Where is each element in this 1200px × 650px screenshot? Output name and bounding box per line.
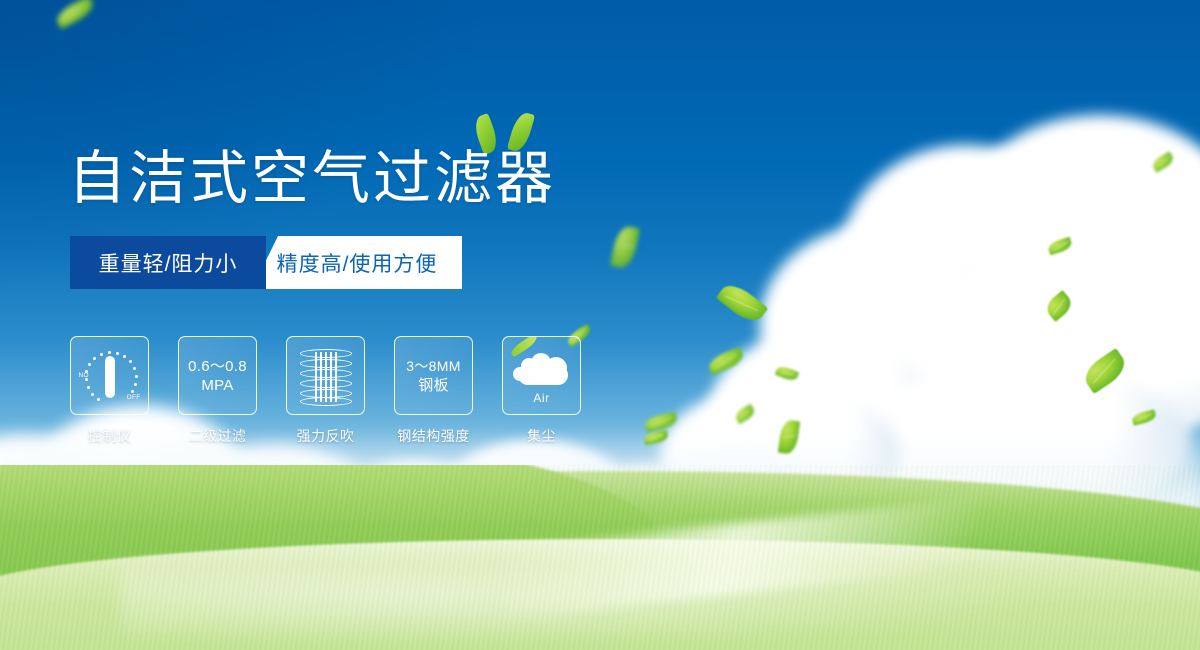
cloud-air-icon (511, 347, 573, 389)
feature-label: 集尘 (527, 426, 556, 446)
gauge-needle (105, 356, 115, 398)
page-title: 自洁式空气过滤器 (68, 145, 556, 213)
feature-item-controller[interactable]: NO OFF 控制仪 (70, 336, 149, 446)
gauge-label-no: NO (79, 372, 89, 379)
cloud-air-label: Air (533, 391, 549, 405)
subtitle-bar: 重量轻/阻力小 精度高/使用方便 (70, 236, 462, 289)
feature-list: NO OFF 控制仪 0.6〜0.8 MPA 二级过滤 (70, 336, 581, 446)
cloud-air-icon-box: Air (502, 336, 581, 415)
steel-value-line2: 钢板 (418, 376, 449, 395)
feature-item-backblow[interactable]: 强力反吹 (286, 336, 365, 446)
feature-label: 二级过滤 (189, 426, 247, 446)
subtitle-left-segment: 重量轻/阻力小 (70, 236, 266, 289)
gauge-icon: NO OFF (79, 347, 141, 405)
subtitle-right-segment: 精度高/使用方便 (252, 236, 462, 289)
gauge-label-off: OFF (127, 394, 141, 401)
filter-cartridge-icon-box (286, 336, 365, 415)
steel-value-line1: 3〜8MM (406, 357, 460, 376)
feature-item-steel-strength[interactable]: 3〜8MM 钢板 钢结构强度 (394, 336, 473, 446)
grass-field (0, 465, 1200, 650)
feature-label: 钢结构强度 (397, 426, 470, 446)
feature-item-two-stage-filter[interactable]: 0.6〜0.8 MPA 二级过滤 (178, 336, 257, 446)
feature-label: 强力反吹 (297, 426, 355, 446)
grass-texture (0, 465, 1200, 650)
pressure-value-line2: MPA (201, 376, 233, 395)
product-banner: 自洁式空气过滤器 重量轻/阻力小 精度高/使用方便 (0, 0, 1200, 650)
feature-label: 控制仪 (88, 426, 132, 446)
pressure-text-icon-box: 0.6〜0.8 MPA (178, 336, 257, 415)
filter-cartridge-icon (300, 347, 352, 405)
pressure-value-line1: 0.6〜0.8 (188, 357, 247, 376)
steel-text-icon-box: 3〜8MM 钢板 (394, 336, 473, 415)
feature-item-dust-collection[interactable]: Air 集尘 (502, 336, 581, 446)
gauge-icon-box: NO OFF (70, 336, 149, 415)
leaf-streak-icon (508, 336, 538, 357)
